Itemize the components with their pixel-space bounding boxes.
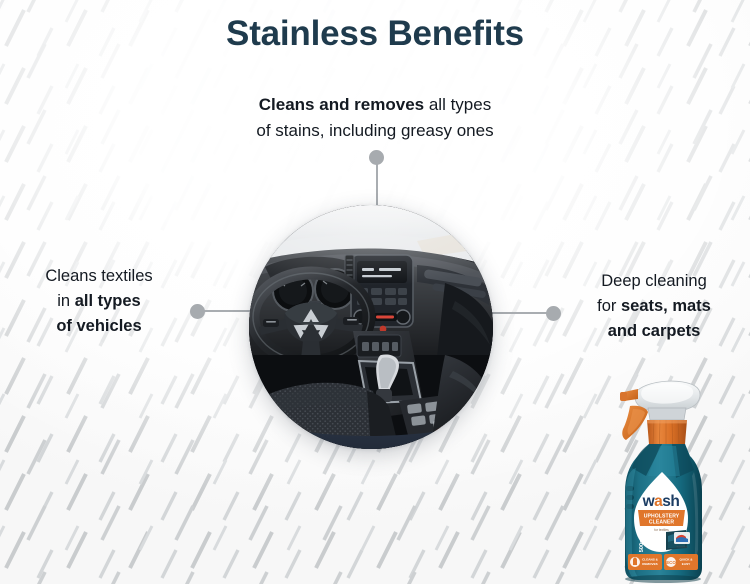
callout-top-line2: of stains, including greasy ones — [256, 121, 493, 140]
dot-icon-top — [369, 150, 384, 165]
eco-badge-icon: ECO — [666, 560, 676, 565]
callout-right-line2-bold: seats, mats — [621, 297, 711, 315]
callout-top-bold: Cleans and removes — [259, 95, 424, 114]
product-feature-right-line1: QUICK & — [679, 557, 693, 561]
callout-right-line3-bold: and carpets — [608, 322, 701, 340]
callout-left: Cleans textiles in all types of vehicles — [8, 264, 190, 339]
callout-right-line2-prefix: for — [597, 297, 621, 315]
callout-left-line2-bold: all types — [75, 292, 141, 310]
hero-car-interior-image — [249, 205, 493, 449]
callout-left-line3-bold: of vehicles — [56, 317, 141, 335]
callout-right-line1: Deep cleaning — [601, 272, 707, 290]
dot-icon-left — [190, 304, 205, 319]
callout-right: Deep cleaning for seats, mats and carpet… — [562, 269, 746, 344]
product-badge-line1: UPHOLSTERY — [644, 513, 680, 519]
callout-left-line2-prefix: in — [57, 292, 74, 310]
callout-top: Cleans and removes all types of stains, … — [145, 92, 605, 143]
svg-text:technology: technology — [676, 545, 688, 548]
infographic-stage: Stainless Benefits Cleans and removes al… — [0, 0, 750, 584]
product-bottle: wash UPHOLSTERY CLEANER for textiles 500… — [602, 372, 720, 584]
product-feature-left-line1: CLEANS & — [642, 557, 659, 561]
product-badge-line2: CLEANER — [649, 520, 675, 526]
product-feature-right-line2: EASY — [682, 562, 691, 566]
page-title: Stainless Benefits — [0, 14, 750, 54]
product-feature-left-line2: REMOVES — [642, 562, 657, 566]
product-volume: 500ml e — [639, 532, 645, 553]
callout-top-rest: all types — [424, 95, 491, 114]
product-brand-text: wash — [642, 493, 680, 510]
callout-left-line1: Cleans textiles — [45, 267, 152, 285]
dot-icon-right — [546, 306, 561, 321]
svg-text:for textiles: for textiles — [654, 528, 669, 532]
